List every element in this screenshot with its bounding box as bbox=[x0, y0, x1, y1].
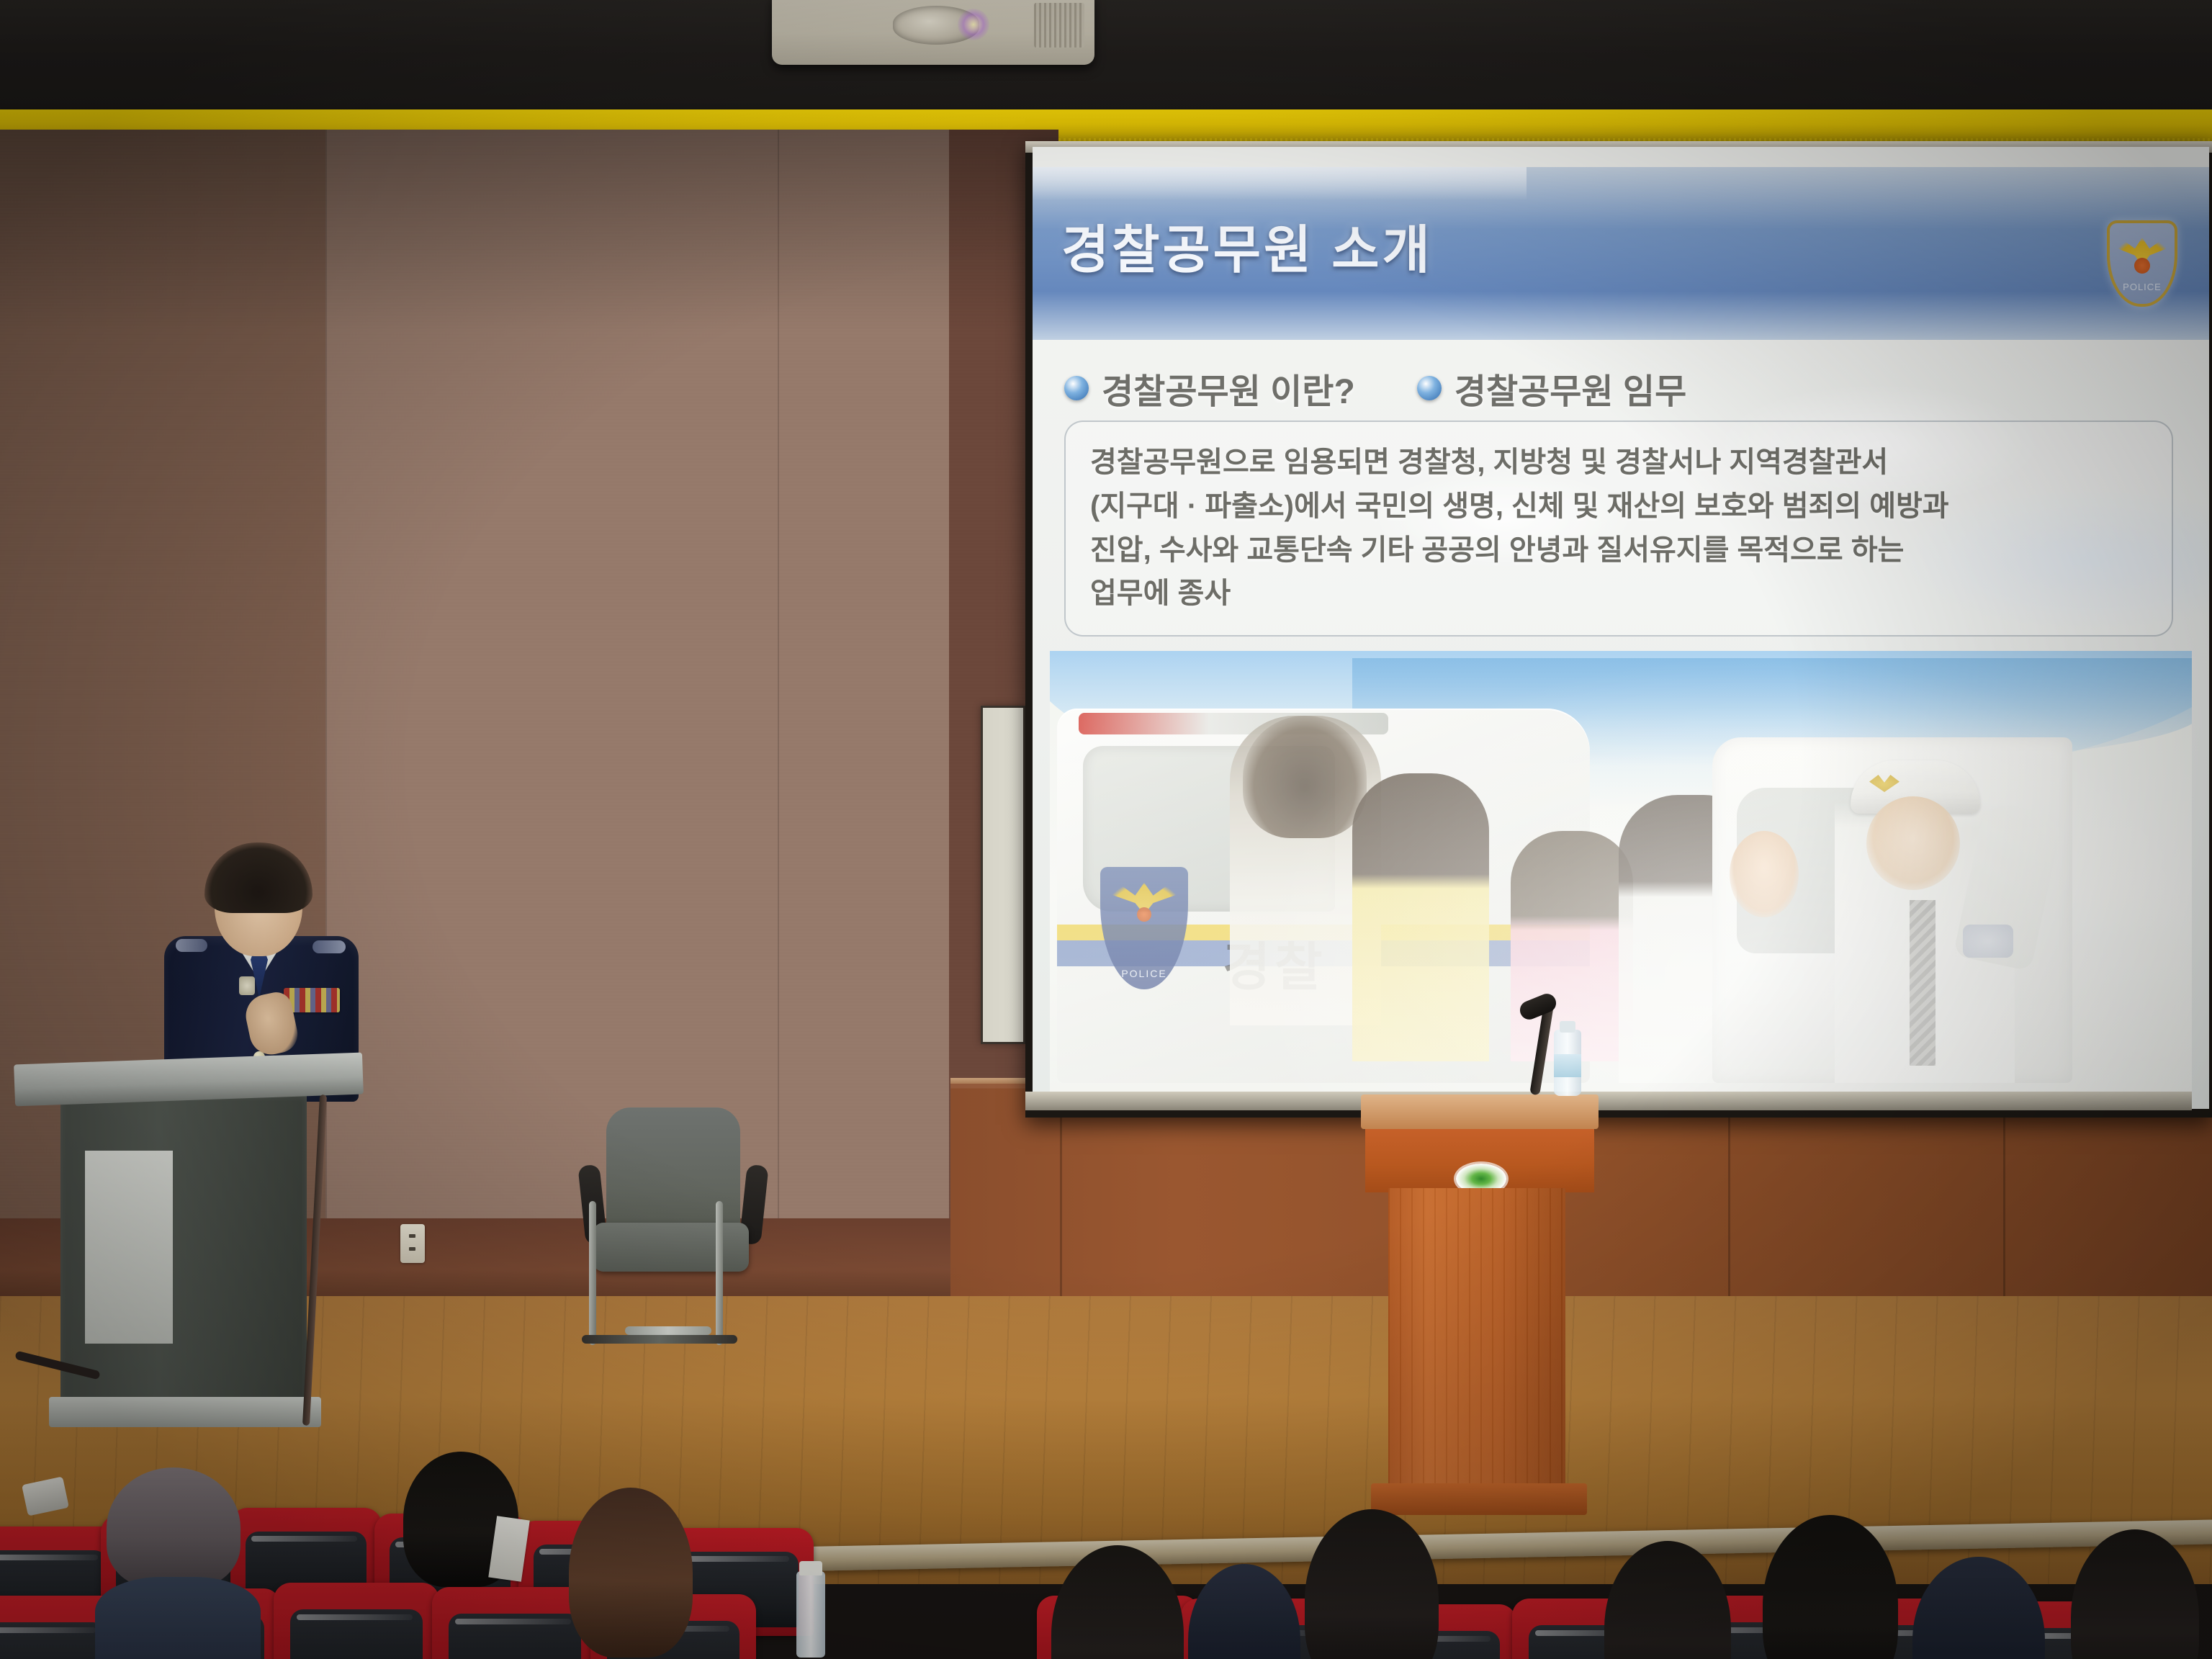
slide-body-line-4: 업무에 종사 bbox=[1090, 572, 2147, 616]
podium-body bbox=[60, 1093, 307, 1404]
audience-person-head bbox=[1604, 1541, 1731, 1659]
slide-body-textbox: 경찰공무원으로 임용되면 경찰청, 지방청 및 경찰서나 지역경찰관서 (지구대… bbox=[1064, 421, 2173, 637]
lectern-body bbox=[1388, 1188, 1565, 1491]
audience-person-head bbox=[2071, 1529, 2199, 1659]
chair-seat bbox=[593, 1223, 749, 1272]
proscenium-wall bbox=[0, 0, 2212, 122]
chair-foot-rail bbox=[582, 1335, 737, 1344]
car-emblem-caption: POLICE bbox=[1100, 968, 1188, 979]
bullet-label: 경찰공무원 임무 bbox=[1455, 363, 1686, 413]
face bbox=[1866, 796, 1960, 890]
lectern-top-surface bbox=[1361, 1094, 1599, 1129]
photo-girl-yellow-dress bbox=[1352, 773, 1489, 1061]
audience-person-head bbox=[1051, 1545, 1184, 1659]
hair bbox=[1243, 716, 1367, 838]
projector-vent bbox=[1034, 3, 1084, 48]
cap-badge-icon bbox=[1869, 775, 1899, 792]
whiteboard-panel bbox=[981, 706, 1025, 1044]
chair-leg-left bbox=[589, 1201, 596, 1345]
projection-screen: 경찰공무원 소개 POLICE 경찰공무원 이란? 경찰공무원 임무 bbox=[1033, 147, 2209, 1109]
slide-body-line-3: 진압, 수사와 교통단속 기타 공공의 안녕과 질서유지를 목적으로 하는 bbox=[1090, 529, 2147, 572]
water-bottle-audience bbox=[796, 1571, 825, 1658]
speaker-podium bbox=[60, 1058, 320, 1433]
emblem-center-icon bbox=[2134, 258, 2150, 274]
audience-person-head bbox=[107, 1467, 240, 1588]
bullet-dot-icon bbox=[1064, 376, 1089, 400]
slide-bullet-2: 경찰공무원 임무 bbox=[1417, 363, 1686, 413]
podium-top-surface bbox=[14, 1053, 364, 1107]
audience-person-shoulders bbox=[95, 1577, 261, 1659]
chair-crossbar bbox=[625, 1326, 711, 1335]
ceiling-projector bbox=[772, 0, 1094, 65]
audience-person-head bbox=[1763, 1515, 1898, 1659]
audience-person-head bbox=[1188, 1564, 1300, 1659]
slide-photo-collage: POLICE 경찰 bbox=[1050, 651, 2192, 1092]
chest-badge-icon bbox=[239, 976, 255, 995]
necktie bbox=[1910, 900, 1935, 1066]
bottle-cap bbox=[1560, 1021, 1575, 1033]
car-police-emblem-icon: POLICE bbox=[1100, 867, 1188, 989]
audience-person-head bbox=[1912, 1557, 2045, 1659]
photo-traffic-officer bbox=[1835, 759, 2015, 1083]
shoulder-epaulette-right bbox=[313, 940, 346, 953]
slide-bullet-row: 경찰공무원 이란? 경찰공무원 임무 bbox=[1064, 363, 2146, 413]
slide-title: 경찰공무원 소개 bbox=[1061, 207, 1433, 283]
slide-body-line-1: 경찰공무원으로 임용되면 경찰청, 지방청 및 경찰서나 지역경찰관서 bbox=[1090, 441, 2147, 485]
emblem-center-icon bbox=[1137, 907, 1151, 922]
wall-power-outlet bbox=[400, 1224, 425, 1263]
bottle-label bbox=[1554, 1054, 1581, 1077]
audience-area bbox=[0, 1455, 2212, 1659]
stage-chair bbox=[575, 1107, 769, 1352]
emblem-caption: POLICE bbox=[2110, 282, 2175, 292]
slide-bullet-1: 경찰공무원 이란? bbox=[1064, 363, 1355, 413]
lectern-apron bbox=[1365, 1123, 1594, 1192]
hair bbox=[204, 842, 313, 913]
audience-seat bbox=[274, 1583, 439, 1659]
presentation-slide: 경찰공무원 소개 POLICE 경찰공무원 이란? 경찰공무원 임무 bbox=[1033, 147, 2209, 1109]
bullet-label: 경찰공무원 이란? bbox=[1102, 363, 1355, 413]
audience-person-head bbox=[1305, 1509, 1439, 1659]
podium-front-panel bbox=[85, 1151, 173, 1344]
shoulder-insignia-icon bbox=[1963, 925, 2013, 958]
photo-car-driver bbox=[1730, 831, 1799, 917]
podium-base bbox=[49, 1397, 321, 1427]
water-bottle-lectern bbox=[1554, 1030, 1581, 1096]
shoulder-epaulette-left bbox=[176, 939, 207, 952]
audience-phone bbox=[22, 1476, 69, 1516]
chair-leg-right bbox=[716, 1201, 723, 1345]
audience-person-head bbox=[569, 1488, 693, 1658]
auditorium-photo: 경찰공무원 소개 POLICE 경찰공무원 이란? 경찰공무원 임무 bbox=[0, 0, 2212, 1659]
bullet-dot-icon bbox=[1417, 376, 1442, 400]
police-emblem-icon: POLICE bbox=[2107, 220, 2177, 307]
slide-body-line-2: (지구대 · 파출소)에서 국민의 생명, 신체 및 재산의 보호와 범죄의 예… bbox=[1090, 485, 2147, 529]
slide-title-bar: 경찰공무원 소개 POLICE bbox=[1033, 167, 2209, 340]
projector-lens-glint bbox=[958, 9, 989, 40]
